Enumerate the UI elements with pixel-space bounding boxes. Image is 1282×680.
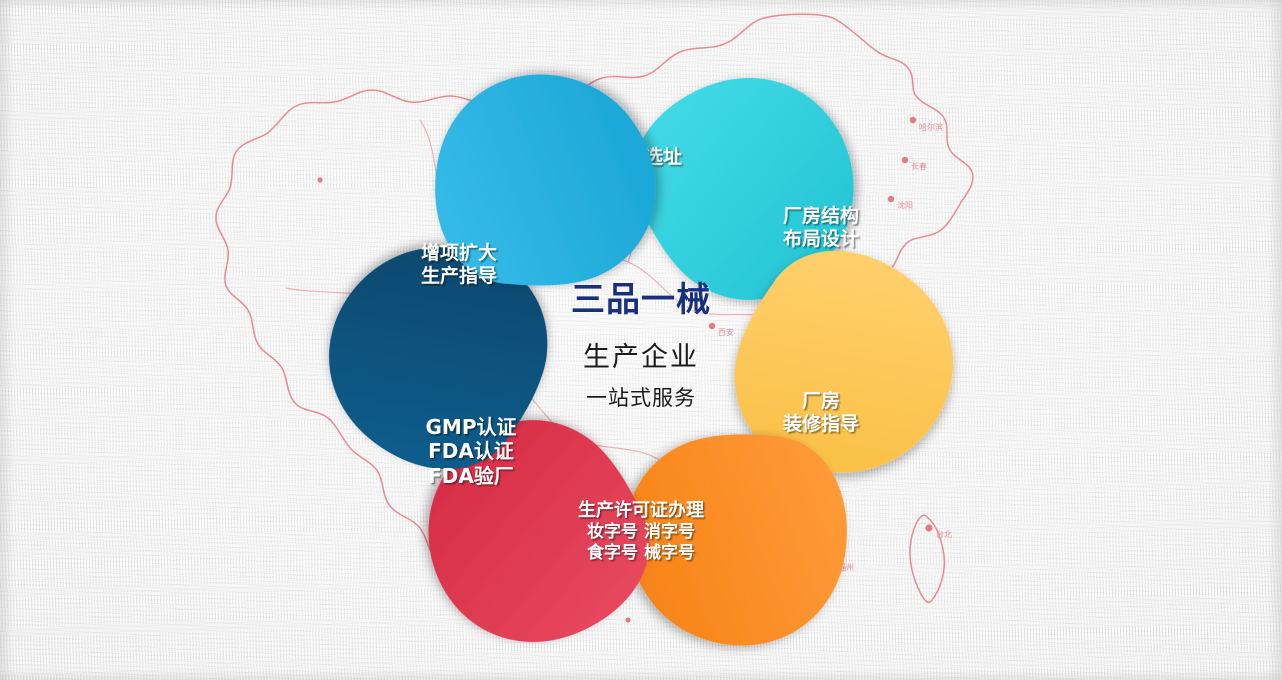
infographic-canvas: 哈尔滨 长春 沈阳 北京 西安 武汉 上海 台北 广州 福州 南宁 (0, 0, 1282, 680)
city-dot-extra-1 (317, 177, 322, 182)
six-petal-ring: 厂房选址 厂房结构 布局设计 (341, 60, 941, 660)
